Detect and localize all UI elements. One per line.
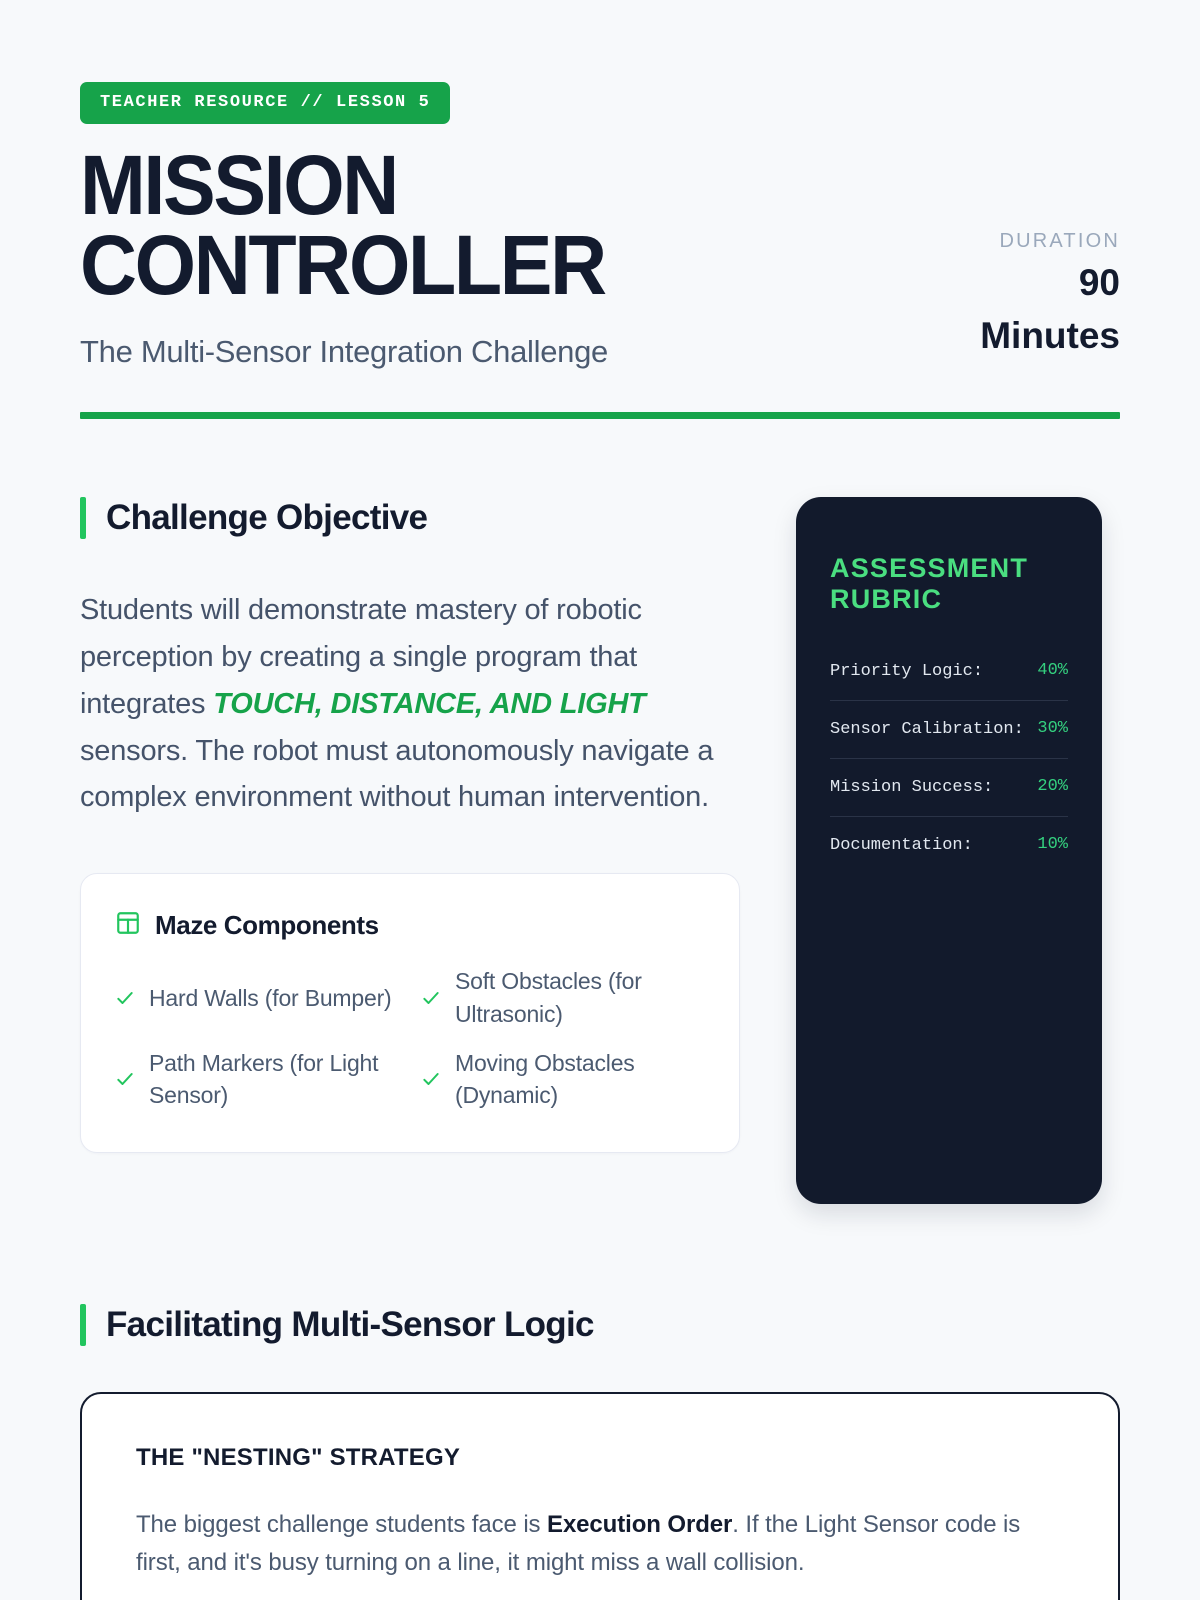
- list-item-label: Moving Obstacles (Dynamic): [455, 1047, 705, 1112]
- rubric-row: Priority Logic: 40%: [830, 652, 1068, 700]
- rubric-row-label: Documentation:: [830, 835, 973, 858]
- facilitating-section: Facilitating Multi-Sensor Logic THE "NES…: [80, 1304, 1120, 1600]
- check-icon: [115, 1069, 135, 1089]
- resource-badge: TEACHER RESOURCE // LESSON 5: [80, 82, 450, 124]
- title-block: MISSION CONTROLLER The Multi-Sensor Inte…: [80, 146, 638, 370]
- body-grid: Challenge Objective Students will demons…: [80, 497, 1120, 1204]
- check-icon: [421, 988, 441, 1008]
- strategy-card-title: THE "NESTING" STRATEGY: [136, 1444, 1064, 1472]
- duration-block: DURATION 90 Minutes: [980, 230, 1120, 370]
- objective-heading: Challenge Objective: [80, 497, 740, 539]
- rubric-row-label: Priority Logic:: [830, 661, 983, 684]
- list-item-label: Soft Obstacles (for Ultrasonic): [455, 965, 705, 1030]
- rubric-title: ASSESSMENT RUBRIC: [830, 553, 1068, 617]
- sidebar-column: ASSESSMENT RUBRIC Priority Logic: 40% Se…: [796, 497, 1102, 1204]
- nesting-strategy-card: THE "NESTING" STRATEGY The biggest chall…: [80, 1392, 1120, 1600]
- facilitating-heading: Facilitating Multi-Sensor Logic: [80, 1304, 1120, 1346]
- list-item: Moving Obstacles (Dynamic): [421, 1047, 705, 1112]
- main-column: Challenge Objective Students will demons…: [80, 497, 740, 1153]
- objective-text-part2: sensors. The robot must autonomously nav…: [80, 735, 713, 814]
- check-icon: [115, 988, 135, 1008]
- header-divider: [80, 412, 1120, 419]
- maze-card-header: Maze Components: [115, 910, 705, 941]
- duration-value: 90: [980, 259, 1120, 306]
- assessment-rubric-panel: ASSESSMENT RUBRIC Priority Logic: 40% Se…: [796, 497, 1102, 1204]
- layout-panel-icon: [115, 910, 141, 941]
- maze-components-card: Maze Components Hard Walls (for Bumper) …: [80, 873, 740, 1153]
- duration-unit: Minutes: [980, 312, 1120, 359]
- rubric-row-value: 30%: [1037, 719, 1068, 738]
- list-item: Soft Obstacles (for Ultrasonic): [421, 965, 705, 1030]
- objective-paragraph: Students will demonstrate mastery of rob…: [80, 587, 740, 822]
- maze-card-title: Maze Components: [155, 910, 379, 941]
- list-item: Hard Walls (for Bumper): [115, 965, 399, 1030]
- rubric-row-label: Mission Success:: [830, 777, 993, 800]
- rubric-row-label: Sensor Calibration:: [830, 719, 1024, 742]
- rubric-row: Sensor Calibration: 30%: [830, 700, 1068, 758]
- rubric-row-value: 10%: [1037, 835, 1068, 854]
- accent-bar: [80, 497, 86, 539]
- maze-items-grid: Hard Walls (for Bumper) Soft Obstacles (…: [115, 965, 705, 1112]
- objective-heading-text: Challenge Objective: [106, 498, 427, 538]
- rubric-row: Mission Success: 20%: [830, 758, 1068, 816]
- strategy-card-text: The biggest challenge students face is E…: [136, 1506, 1064, 1583]
- page-subtitle: The Multi-Sensor Integration Challenge: [80, 334, 638, 370]
- list-item-label: Hard Walls (for Bumper): [149, 982, 391, 1015]
- lesson-page: TEACHER RESOURCE // LESSON 5 MISSION CON…: [0, 0, 1200, 1600]
- page-title-line2: CONTROLLER: [80, 226, 605, 306]
- strategy-text-bold: Execution Order: [547, 1511, 732, 1538]
- list-item: Path Markers (for Light Sensor): [115, 1047, 399, 1112]
- header-row: MISSION CONTROLLER The Multi-Sensor Inte…: [80, 124, 1120, 370]
- rubric-row: Documentation: 10%: [830, 816, 1068, 874]
- objective-highlight: TOUCH, DISTANCE, AND LIGHT: [213, 688, 645, 720]
- rubric-row-value: 40%: [1037, 661, 1068, 680]
- check-icon: [421, 1069, 441, 1089]
- duration-label: DURATION: [980, 230, 1120, 253]
- list-item-label: Path Markers (for Light Sensor): [149, 1047, 399, 1112]
- page-title-line1: MISSION: [80, 146, 605, 226]
- facilitating-heading-text: Facilitating Multi-Sensor Logic: [106, 1305, 594, 1345]
- rubric-row-value: 20%: [1037, 777, 1068, 796]
- accent-bar: [80, 1304, 86, 1346]
- strategy-text-part1: The biggest challenge students face is: [136, 1511, 547, 1538]
